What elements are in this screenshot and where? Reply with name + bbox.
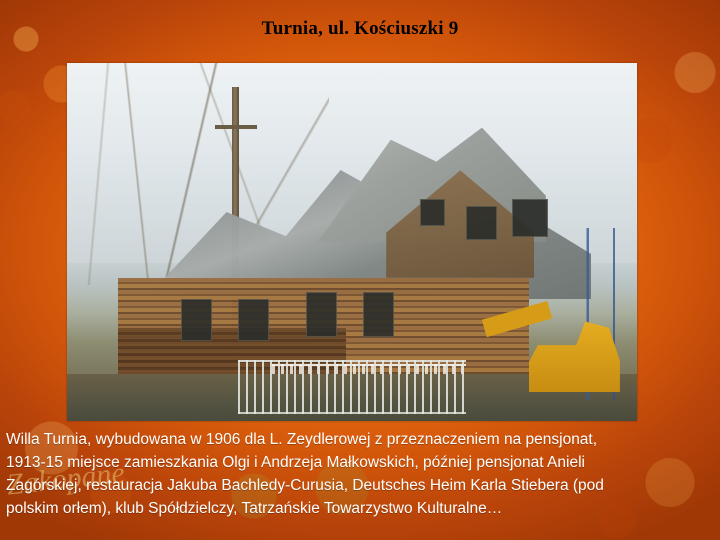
construction-fence (238, 360, 466, 414)
ground-floor-window (181, 299, 212, 340)
utility-pole-crossarm (215, 125, 257, 129)
presentation-slide: Turnia, ul. Kościuszki 9 (0, 0, 720, 540)
ground-floor-window (306, 292, 337, 337)
ground-floor-window (238, 299, 269, 340)
attic-window (420, 199, 445, 226)
caption-line-4: polskim orłem), klub Spółdzielczy, Tatrz… (6, 497, 714, 520)
attic-window (512, 199, 548, 237)
attic-window (466, 206, 497, 240)
caption-line-2: 1913-15 miejsce zamieszkania Olgi i Andr… (6, 451, 714, 474)
photo-frame (67, 63, 637, 421)
slide-caption: Willa Turnia, wybudowana w 1906 dla L. Z… (6, 428, 714, 520)
caption-line-1: Willa Turnia, wybudowana w 1906 dla L. Z… (6, 428, 714, 451)
caption-line-3: Zagórskiej, restauracja Jakuba Bachledy-… (6, 474, 714, 497)
villa-photograph (67, 63, 637, 421)
ground-floor-window (363, 292, 394, 337)
slide-title: Turnia, ul. Kościuszki 9 (0, 18, 720, 40)
